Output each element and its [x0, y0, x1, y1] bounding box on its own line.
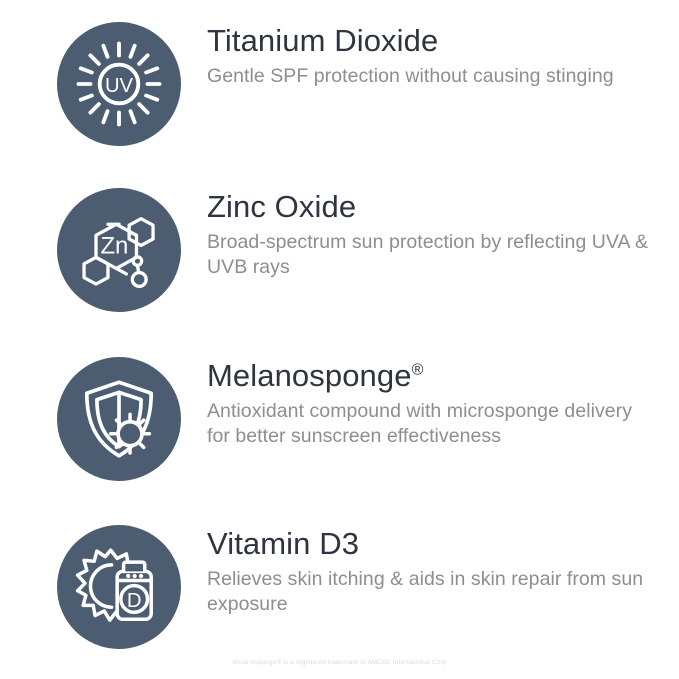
- feature-title: Zinc Oxide: [207, 190, 667, 225]
- feature-title-text: Zinc Oxide: [207, 189, 356, 224]
- zinc-molecule-icon: Zn: [57, 188, 181, 312]
- feature-row: D Vitamin D3 Relieves skin itching & aid…: [57, 525, 667, 653]
- feature-row: Zn Zinc Oxide Broad-spectrum sun protect…: [57, 188, 667, 316]
- feature-text: Melanosponge® Antioxidant compound with …: [181, 357, 667, 449]
- feature-row: Melanosponge® Antioxidant compound with …: [57, 357, 667, 485]
- uv-icon-label: UV: [105, 75, 134, 97]
- feature-title-text: Titanium Dioxide: [207, 23, 438, 58]
- feature-text: Zinc Oxide Broad-spectrum sun protection…: [181, 188, 667, 280]
- trademark-footer-note: Melanosponge® is a registered trademark …: [0, 659, 679, 666]
- feature-text: Vitamin D3 Relieves skin itching & aids …: [181, 525, 667, 617]
- uv-sun-icon: UV: [57, 22, 181, 146]
- vitamin-icon-label: D: [127, 590, 142, 612]
- sun-vitamin-bottle-icon: D: [57, 525, 181, 649]
- feature-title: Titanium Dioxide: [207, 24, 667, 59]
- feature-description: Broad-spectrum sun protection by reflect…: [207, 230, 659, 281]
- shield-sun-icon: [57, 357, 181, 481]
- feature-description: Relieves skin itching & aids in skin rep…: [207, 567, 659, 618]
- zinc-icon-label: Zn: [100, 233, 128, 260]
- feature-title: Melanosponge®: [207, 359, 667, 394]
- feature-description: Gentle SPF protection without causing st…: [207, 64, 659, 89]
- feature-row: UV Titanium Dioxide Gentle SPF protectio…: [57, 22, 667, 150]
- feature-text: Titanium Dioxide Gentle SPF protection w…: [181, 22, 667, 89]
- feature-title-text: Melanosponge: [207, 358, 412, 393]
- feature-title: Vitamin D3: [207, 527, 667, 562]
- registered-trademark-symbol: ®: [412, 362, 424, 379]
- feature-description: Antioxidant compound with microsponge de…: [207, 399, 655, 450]
- feature-title-text: Vitamin D3: [207, 526, 359, 561]
